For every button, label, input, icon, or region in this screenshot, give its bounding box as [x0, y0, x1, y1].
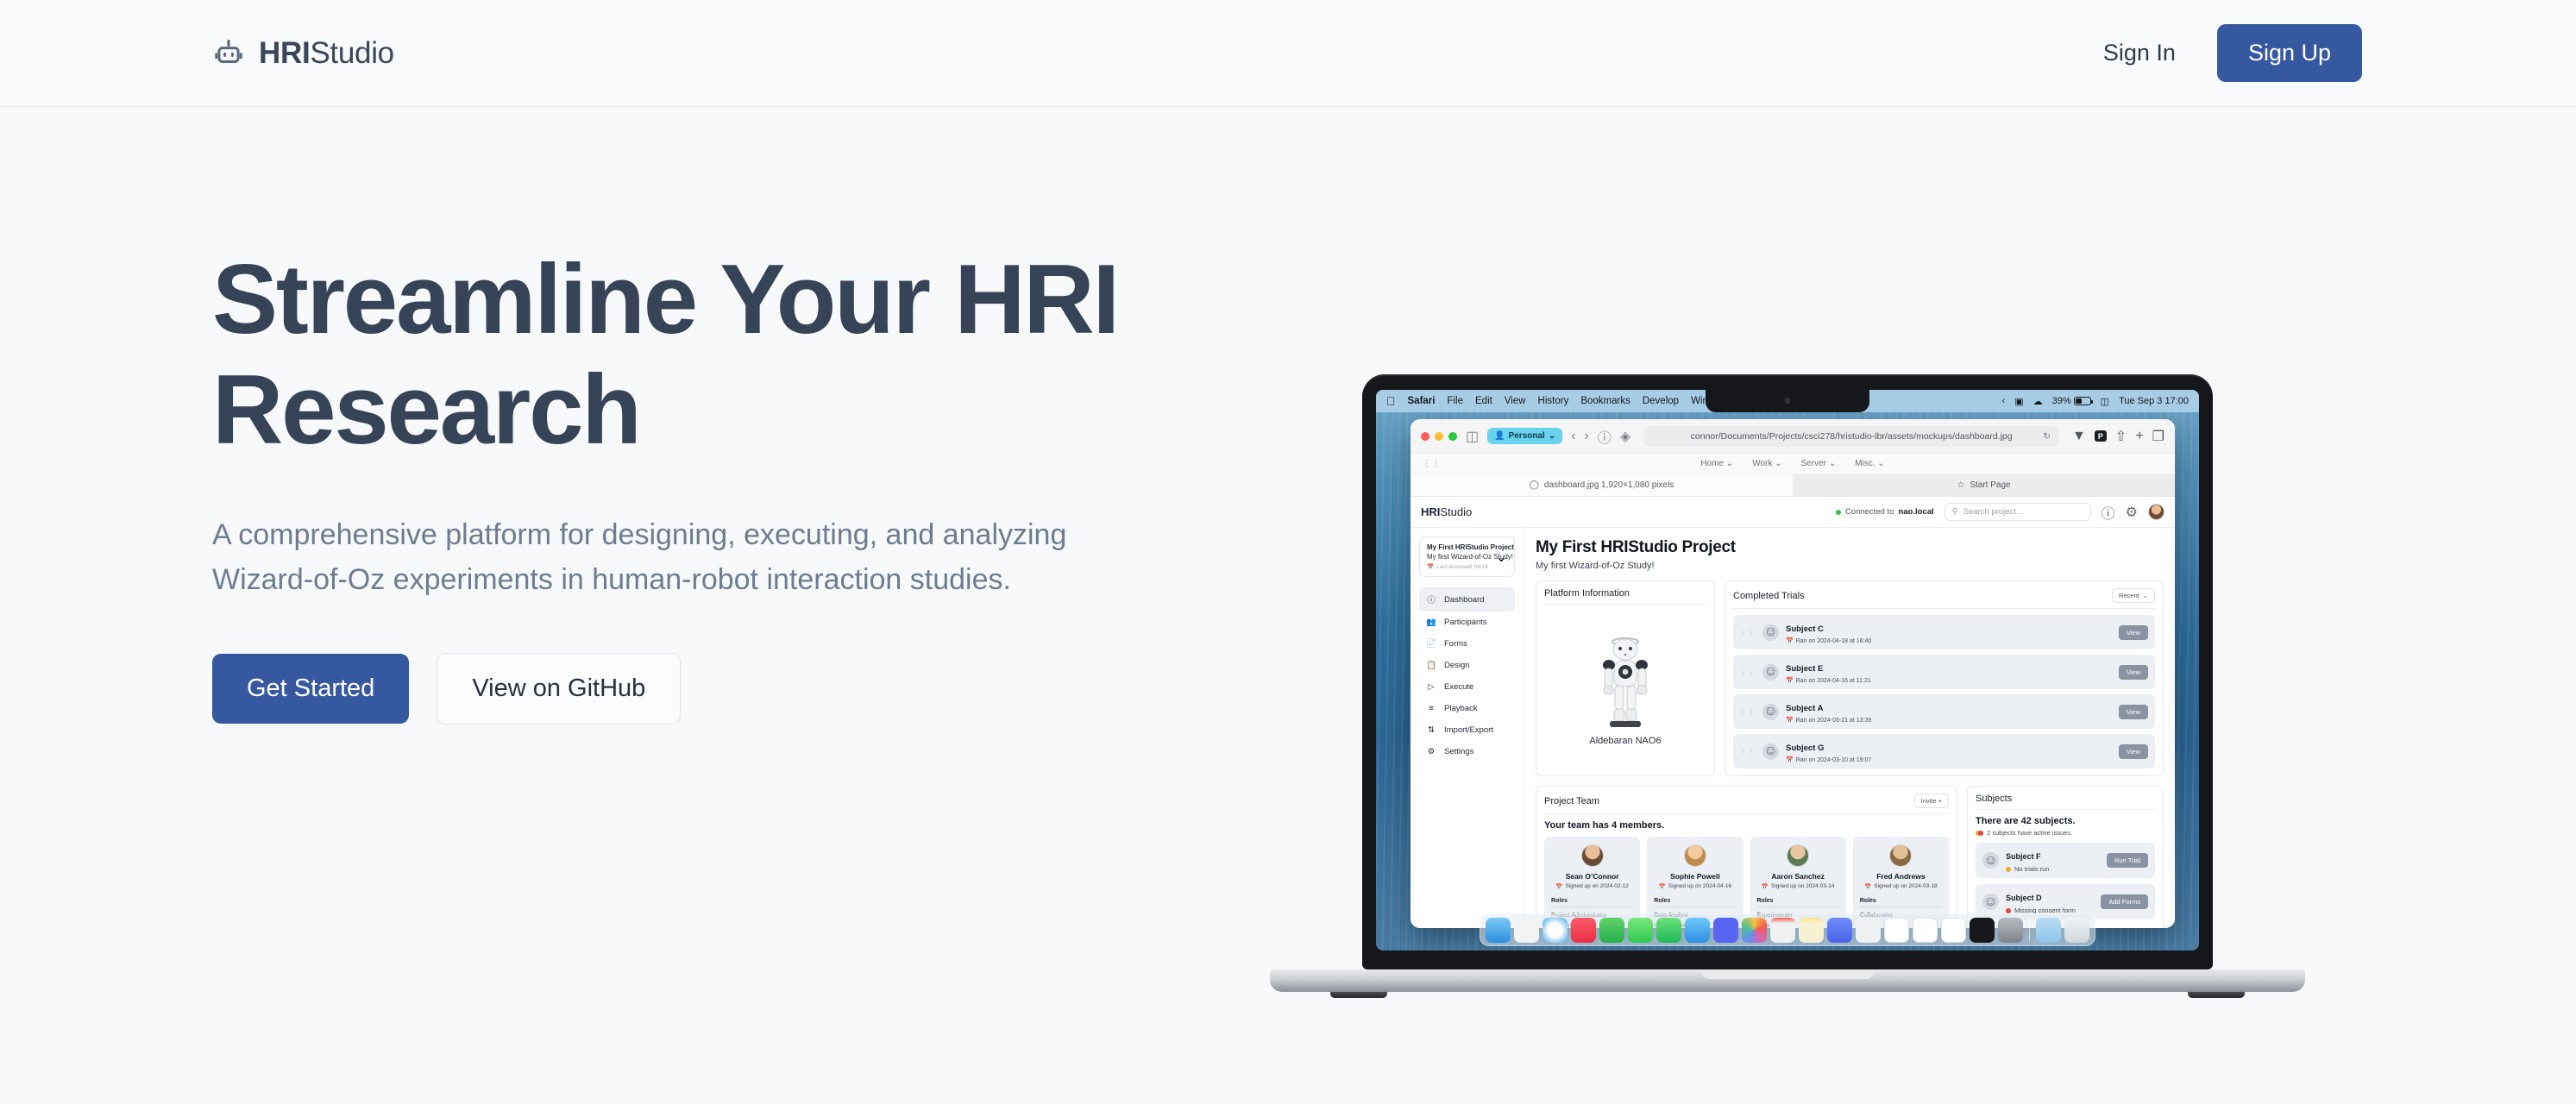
sidebar-item-import-export[interactable]: ⇅ Import/Export [1419, 719, 1515, 741]
platform-information-panel: Platform Information [1536, 580, 1715, 776]
mail-icon[interactable] [1685, 918, 1710, 943]
status-led-icon [1836, 510, 1841, 515]
tab-file-icon: ◯ [1530, 480, 1539, 490]
search-icon: ⚲ [1952, 507, 1958, 517]
trial-meta: 📅 Ran on 2024-04-18 at 16:40 [1786, 637, 2112, 644]
app-logo-bold: HRI [1421, 505, 1440, 518]
pencil-icon[interactable] [1827, 918, 1852, 943]
menubar-item-edit[interactable]: Edit [1475, 396, 1492, 406]
panel-title: Platform Information [1544, 588, 1706, 605]
back-icon[interactable]: ‹ [1571, 429, 1575, 444]
trial-name: Subject E [1786, 664, 1823, 674]
error-dot-icon [1978, 831, 1983, 836]
sidebar-item-playback[interactable]: ≡ Playback [1419, 698, 1515, 719]
sidebar-item-settings[interactable]: ⚙ Settings [1419, 741, 1515, 762]
profile-label: Personal [1509, 431, 1545, 441]
menubar-item-file[interactable]: File [1447, 396, 1463, 406]
person-icon: 👤 [1494, 431, 1505, 441]
member-signup: 📅 Signed up on 2024-02-12 [1555, 883, 1628, 890]
chevron-down-icon: ⌄ [1496, 549, 1507, 566]
table-row[interactable]: ⋮⋮ ☺ Subject G 📅 Ran on 2024-03-10 at 19… [1733, 734, 2155, 768]
tab-overview-icon[interactable]: ❐ [2152, 428, 2164, 445]
avatar: ☺ [1762, 624, 1779, 641]
laptop-mockup:  Safari File Edit View History Bookmark… [1270, 374, 2305, 999]
music-icon[interactable] [1571, 918, 1596, 943]
member-signup: 📅 Signed up on 2024-03-18 [1864, 883, 1937, 890]
table-row[interactable]: ⋮⋮ ☺ Subject C 📅 Ran on 2024-04-18 at 16… [1733, 615, 2155, 649]
subject-name: Subject D [2006, 894, 2042, 902]
drag-handle-icon[interactable]: ⋮⋮ [1740, 710, 1756, 714]
sidebar-toggle-icon[interactable]: ◫ [1466, 428, 1479, 445]
sidebar-item-label: Playback [1444, 704, 1478, 713]
screen-mirroring-icon[interactable]: ▣ [2014, 396, 2023, 407]
safari-profile-chip[interactable]: 👤 Personal ⌄ [1487, 428, 1562, 444]
bookmark-work[interactable]: Work ⌄ [1752, 459, 1781, 468]
trial-meta: 📅 Ran on 2024-03-10 at 19:07 [1786, 756, 2112, 763]
avatar: ☺ [1762, 704, 1779, 720]
discord-icon[interactable] [1713, 918, 1738, 943]
panel-title: Completed Trials Recent ⌄ [1733, 588, 2155, 609]
project-description: My first Wizard-of-Oz Study! [1427, 553, 1491, 561]
calendar-icon: 📅 [1762, 883, 1769, 890]
subjects-panel: Subjects There are 42 subjects. 2 subjec… [1967, 786, 2164, 928]
window-controls[interactable] [1421, 432, 1457, 441]
dock-separator [2029, 919, 2030, 941]
help-icon[interactable]: ⓘ [2102, 502, 2115, 523]
bookmark-server[interactable]: Server ⌄ [1801, 459, 1837, 468]
extensions-icon[interactable]: ◈ [1620, 428, 1630, 445]
panel-title: Project Team Invite + [1544, 793, 1949, 814]
sign-up-button[interactable]: Sign Up [2217, 24, 2362, 82]
view-trial-button[interactable]: View [2119, 705, 2148, 719]
robot-icon [212, 37, 245, 70]
avatar: ☺ [1982, 852, 1999, 869]
member-name: Fred Andrews [1876, 872, 1925, 881]
brand-text: HRIStudio [259, 36, 394, 71]
reload-icon[interactable]: ↻ [2043, 431, 2051, 442]
trial-meta: 📅 Ran on 2024-03-21 at 13:39 [1786, 717, 2112, 724]
calendar-icon[interactable] [1770, 918, 1795, 943]
completed-trials-panel: Completed Trials Recent ⌄ ⋮⋮ [1725, 580, 2164, 776]
subjects-issues: 2 subjects have active issues. [1976, 829, 2155, 837]
subject-name: Subject F [2006, 852, 2041, 861]
brand-regular: Studio [310, 36, 393, 70]
share-icon[interactable]: ⇧ [2115, 428, 2127, 445]
pocket-icon[interactable]: P [2095, 430, 2107, 442]
avatar[interactable] [2148, 504, 2164, 520]
member-name: Aaron Sanchez [1771, 872, 1824, 881]
gear-icon: ⚙ [1426, 747, 1436, 756]
sidebar-item-label: Dashboard [1444, 595, 1484, 605]
facetime-icon[interactable] [1599, 918, 1624, 943]
hero-subtitle: A comprehensive platform for designing, … [212, 513, 1135, 602]
document-icon: 📄 [1426, 639, 1436, 649]
app-logo-regular: Studio [1440, 505, 1472, 518]
macos-dock [1480, 913, 2095, 946]
chevron-down-icon: ⌄ [2143, 592, 2148, 599]
drag-handle-icon[interactable]: ⋮⋮ [1740, 670, 1756, 674]
drag-handle-icon[interactable]: ⋮⋮ [1740, 750, 1756, 754]
forward-icon[interactable]: › [1585, 429, 1589, 444]
downloads-icon[interactable] [2036, 918, 2061, 943]
calendar-icon: 📅 [1427, 563, 1434, 570]
view-on-github-button[interactable]: View on GitHub [437, 653, 681, 724]
drag-handle-icon[interactable]: ⋮⋮ [1740, 630, 1756, 635]
menubar-status-area: ‹ ▣ ☁ 39% ◫ Tue Sep 3 17:00 [2002, 396, 2189, 407]
laptop-screen:  Safari File Edit View History Bookmark… [1376, 390, 2199, 950]
laptop-feet [1270, 992, 2305, 999]
avatar: ☺ [1982, 894, 1999, 910]
notes-icon[interactable] [1799, 918, 1824, 943]
wifi-icon[interactable]: ☁ [2033, 396, 2043, 407]
brand-logo[interactable]: HRIStudio [212, 36, 394, 71]
menubar-item-view[interactable]: View [1505, 396, 1526, 406]
gear-icon[interactable]: ⚙ [2126, 504, 2138, 521]
menubar-item-develop[interactable]: Develop [1643, 396, 1679, 406]
warning-dot-icon [2006, 867, 2011, 872]
bookmarks-bar: ⋮⋮ Home ⌄ Work ⌄ Server ⌄ Misc. ⌄ [1411, 454, 2175, 474]
search-input[interactable]: ⚲ Search project... [1945, 503, 2091, 521]
roles-header: Roles [1654, 898, 1736, 907]
trial-name: Subject G [1786, 743, 1824, 753]
bookmark-home[interactable]: Home ⌄ [1700, 459, 1733, 468]
connection-status: Connected to nao.local [1836, 507, 1934, 517]
trials-filter-dropdown[interactable]: Recent ⌄ [2112, 588, 2155, 603]
close-icon[interactable] [1421, 432, 1429, 441]
calendar-icon: 📅 [1659, 883, 1666, 890]
safari-toolbar-right: ▼ P ⇧ + ❐ [2072, 428, 2164, 445]
view-trial-button[interactable]: View [2119, 744, 2148, 759]
sidebar-item-label: Settings [1444, 747, 1473, 756]
battery-percent: 39% [2052, 396, 2071, 406]
menubar-clock[interactable]: Tue Sep 3 17:00 [2119, 396, 2189, 406]
settings-icon[interactable] [1998, 918, 2023, 943]
sidebar-item-participants[interactable]: 👥 Participants [1419, 612, 1515, 633]
trial-meta: 📅 Ran on 2024-04-16 at 11:21 [1786, 677, 2112, 684]
excel-icon[interactable] [1913, 918, 1938, 943]
trial-name: Subject C [1786, 624, 1824, 634]
photos-icon[interactable] [1742, 918, 1767, 943]
member-name: Sean O’Connor [1566, 872, 1619, 881]
laptop-base [1270, 969, 2305, 992]
app-sidebar: My First HRIStudio Project My first Wiza… [1411, 528, 1524, 928]
robot-name: Aldebaran NAO6 [1589, 736, 1661, 746]
trash-icon[interactable] [2064, 918, 2089, 943]
connection-prefix: Connected to [1845, 507, 1894, 517]
address-text: connor/Documents/Projects/csci278/hristu… [1691, 431, 2013, 442]
dashboard-row-top: Platform Information [1536, 580, 2164, 776]
app-main: My First HRIStudio Project My first Wiza… [1524, 528, 2175, 928]
project-page-title: My First HRIStudio Project [1536, 538, 2164, 557]
avatar [1581, 844, 1604, 867]
play-icon: ▷ [1426, 682, 1436, 692]
avatar [1684, 844, 1706, 867]
terminal-icon[interactable] [1970, 918, 1995, 943]
member-signup: 📅 Signed up on 2024-03-14 [1762, 883, 1834, 890]
apple-logo-icon[interactable]:  [1386, 395, 1396, 407]
connection-host: nao.local [1898, 507, 1933, 517]
tab-dashboard-jpg[interactable]: ◯ dashboard.jpg 1,920×1,080 pixels [1411, 474, 1793, 497]
view-trial-button[interactable]: View [2119, 625, 2148, 640]
people-icon: 👥 [1426, 618, 1436, 627]
run-trial-button[interactable]: Run Trial [2107, 853, 2148, 868]
header-actions: Sign In Sign Up [2093, 24, 2362, 82]
app-body: My First HRIStudio Project My first Wiza… [1411, 528, 2175, 928]
robot-image: Aldebaran NAO6 [1544, 611, 1706, 768]
finder-icon[interactable] [1486, 918, 1511, 943]
camera-notch [1706, 390, 1869, 412]
laptop:  Safari File Edit View History Bookmark… [1270, 374, 2305, 999]
laptop-foot-right [2188, 992, 2245, 998]
error-dot-icon [2006, 908, 2011, 913]
avatar [1787, 844, 1809, 867]
invite-button[interactable]: Invite + [1914, 793, 1949, 808]
laptop-foot-left [1330, 992, 1387, 998]
brand-bold: HRI [259, 36, 310, 70]
project-selector[interactable]: My First HRIStudio Project My first Wiza… [1419, 536, 1515, 577]
minimize-icon[interactable] [1435, 432, 1443, 441]
team-summary: Your team has 4 members. [1544, 820, 1949, 831]
vscode-icon[interactable] [1941, 918, 1966, 943]
page-title: Streamline Your HRI Research [212, 245, 1178, 465]
member-name: Sophie Powell [1670, 872, 1720, 881]
roles-header: Roles [1551, 898, 1633, 907]
calendar-icon: 📅 [1786, 637, 1794, 644]
new-tab-icon[interactable]: + [2135, 429, 2143, 444]
calendar-icon: 📅 [1786, 717, 1794, 724]
add-forms-button[interactable]: Add Forms [2101, 894, 2148, 909]
sidebar-item-label: Import/Export [1444, 725, 1493, 735]
search-placeholder: Search project... [1963, 507, 2023, 517]
subject-status: No trials run [2006, 865, 2100, 873]
sidebar-item-label: Execute [1444, 682, 1473, 692]
view-trial-button[interactable]: View [2119, 665, 2148, 680]
downloads-icon[interactable]: ▼ [2072, 429, 2086, 444]
menubar-app-name[interactable]: Safari [1408, 396, 1436, 406]
sidebar-item-dashboard[interactable]: ⓘ Dashboard [1419, 587, 1515, 612]
app-header: HRIStudio Connected to nao.local ⚲ Searc… [1411, 497, 2175, 528]
safari-window: ◫ 👤 Personal ⌄ ‹ › ⓘ ◈ connor/Docu [1411, 419, 2175, 928]
sidebar-item-label: Design [1444, 661, 1470, 670]
control-center-icon[interactable]: ◫ [2101, 396, 2109, 407]
sidebar-item-label: Forms [1444, 639, 1467, 649]
tab-start-page[interactable]: ☆ Start Page [1793, 474, 2175, 497]
calendar-icon: 📅 [1786, 756, 1794, 763]
sidebar-item-forms[interactable]: 📄 Forms [1419, 633, 1515, 655]
hero-actions: Get Started View on GitHub [212, 653, 1222, 724]
tab-label: Start Page [1970, 480, 2010, 490]
sign-in-link[interactable]: Sign In [2093, 31, 2186, 75]
get-started-button[interactable]: Get Started [212, 654, 409, 724]
dashboard-row-bottom: Project Team Invite + Your team has 4 me… [1536, 786, 2164, 928]
app-logo[interactable]: HRIStudio [1421, 505, 1472, 518]
calendar-icon: 📅 [1864, 883, 1871, 890]
panel-title: Subjects [1976, 793, 2155, 810]
messages-icon[interactable] [1628, 918, 1653, 943]
calendar-icon: 📅 [1555, 883, 1562, 890]
battery-indicator[interactable]: 39% [2052, 396, 2091, 406]
hero-section: Streamline Your HRI Research A comprehen… [0, 107, 2576, 1104]
project-name: My First HRIStudio Project [1427, 543, 1491, 551]
project-team-panel: Project Team Invite + Your team has 4 me… [1536, 786, 1957, 928]
battery-icon [2074, 397, 2091, 405]
info-circle-icon: ⓘ [1426, 593, 1436, 605]
keyboard-icon[interactable] [1856, 918, 1881, 943]
whatsapp-icon[interactable] [1656, 918, 1681, 943]
sidebar-item-label: Participants [1444, 618, 1487, 627]
launchpad-icon[interactable] [1514, 918, 1539, 943]
sidebar-item-design[interactable]: 📋 Design [1419, 655, 1515, 676]
table-row[interactable]: ⋮⋮ ☺ Subject A 📅 Ran on 2024-03-21 at 13… [1733, 694, 2155, 729]
avatar [1889, 844, 1912, 867]
safari-toolbar: ◫ 👤 Personal ⌄ ‹ › ⓘ ◈ connor/Docu [1411, 419, 2175, 454]
maximize-icon[interactable] [1448, 432, 1457, 441]
safari-icon[interactable] [1542, 918, 1568, 943]
control-chevron-icon[interactable]: ‹ [2002, 396, 2006, 406]
word-icon[interactable] [1884, 918, 1909, 943]
sidebar-item-execute[interactable]: ▷ Execute [1419, 676, 1515, 698]
project-last-accessed: 📅 Last accessed 04/18 [1427, 563, 1491, 570]
hero-copy: Streamline Your HRI Research A comprehen… [212, 245, 1222, 724]
project-page-subtitle: My first Wizard-of-Oz Study! [1536, 561, 2164, 571]
nao-robot-icon [1588, 634, 1662, 731]
safari-tabbar: ◯ dashboard.jpg 1,920×1,080 pixels ☆ Sta… [1411, 474, 2175, 497]
chevron-down-icon: ⌄ [1549, 431, 1555, 441]
info-icon[interactable]: ⓘ [1598, 426, 1612, 447]
laptop-lid:  Safari File Edit View History Bookmark… [1362, 374, 2213, 969]
import-export-icon: ⇅ [1426, 725, 1436, 735]
roles-header: Roles [1860, 898, 1942, 907]
table-row[interactable]: ⋮⋮ ☺ Subject E 📅 Ran on 2024-04-16 at 11… [1733, 655, 2155, 689]
tab-label: dashboard.jpg 1,920×1,080 pixels [1544, 480, 1674, 490]
address-bar[interactable]: connor/Documents/Projects/csci278/hristu… [1644, 426, 2058, 447]
roles-header: Roles [1757, 898, 1839, 907]
trial-name: Subject A [1786, 704, 1823, 713]
member-signup: 📅 Signed up on 2024-04-16 [1659, 883, 1731, 890]
menubar-item-bookmarks[interactable]: Bookmarks [1580, 396, 1630, 406]
bookmark-misc[interactable]: Misc. ⌄ [1855, 459, 1885, 468]
clipboard-icon: 📋 [1426, 661, 1436, 670]
star-icon: ☆ [1957, 480, 1964, 490]
avatar: ☺ [1762, 743, 1779, 760]
menubar-item-history[interactable]: History [1538, 396, 1569, 406]
list-play-icon: ≡ [1426, 704, 1436, 713]
subjects-count: There are 42 subjects. [1976, 816, 2155, 826]
site-header: HRIStudio Sign In Sign Up [0, 0, 2576, 107]
avatar: ☺ [1762, 664, 1779, 681]
list-item[interactable]: ☺ Subject F No trials run [1976, 843, 2155, 878]
bookmarks-grid-icon[interactable]: ⋮⋮ [1423, 459, 1442, 468]
calendar-icon: 📅 [1786, 677, 1794, 684]
